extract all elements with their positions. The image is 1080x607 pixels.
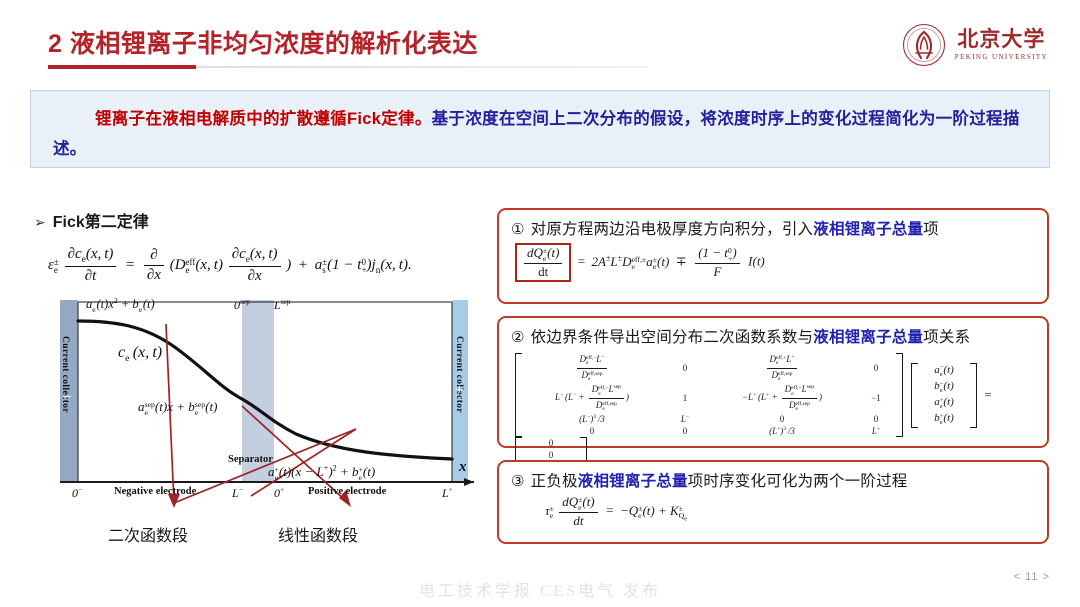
matrix-cell: Deff,+eL+Deff,sepe xyxy=(708,353,856,383)
vector-bracket-right xyxy=(970,363,977,428)
title-underline-accent xyxy=(48,65,196,69)
vector-bracket-left xyxy=(911,363,918,428)
page-indicator: < 11 > xyxy=(1014,571,1050,583)
matrix-cell: 0 xyxy=(522,425,662,437)
matrix-bracket-left xyxy=(515,353,522,437)
diffusion-equation: ε±e ∂ce(x, t)∂t = ∂∂x (Deffe(x, t) ∂ce(x… xyxy=(48,246,468,285)
matrix-cell: L+ xyxy=(856,425,896,437)
watermark-text: 电工技术学报 CES电气 发布 xyxy=(0,577,1080,601)
logo-name-en: PEKING UNIVERSITY xyxy=(955,54,1048,61)
vector-cell: a−e(t) xyxy=(918,363,970,379)
segment-label-linear: 线性函数段 xyxy=(278,522,358,546)
label-current-collector-positive: Current collector xyxy=(454,336,464,413)
concentration-profile-diagram: a−e(t)x2 + b−e(t) 0sep Lsep ce (x, t) as… xyxy=(46,296,486,506)
label-axis-x: x xyxy=(459,459,467,476)
matrix-row: (L−)3 /3 L− 0 0 xyxy=(522,413,896,425)
section-number: 2 xyxy=(48,30,62,58)
step-3-box: ③正负极液相锂离子总量项时序变化可化为两个一阶过程 τ±e dQ±e(t)dt … xyxy=(497,460,1049,544)
matrix-row: 0 0 (L+)3 /3 L+ xyxy=(522,425,896,437)
step-3-number: ③ xyxy=(511,473,525,490)
peking-university-logo: 北京大学 PEKING UNIVERSITY xyxy=(902,20,1048,70)
fick-second-law-heading: ➢Fick第二定律 xyxy=(34,208,149,232)
matrix-cell: 0 xyxy=(662,425,708,437)
step-1-heading: ①对原方程两边沿电极厚度方向积分，引入液相锂离子总量项 xyxy=(499,210,1047,241)
step-3-heading: ③正负极液相锂离子总量项时序变化可化为两个一阶过程 xyxy=(499,462,1047,493)
label-quadratic-negative: a−e(t)x2 + b−e(t) xyxy=(86,296,155,313)
diagram-svg xyxy=(46,296,486,511)
title-underline-fade xyxy=(196,66,648,68)
summary-banner: 锂离子在液相电解质中的扩散遵循Fick定律。基于浓度在空间上二次分布的假设，将浓… xyxy=(30,90,1050,168)
step-3-highlight: 液相锂离子总量 xyxy=(578,473,688,490)
step-1-text-after: 项 xyxy=(923,221,939,238)
matrix-cell: 1 xyxy=(662,392,708,404)
label-concentration-function: ce (x, t) xyxy=(118,344,162,364)
axis-tick-0-neg: 0− xyxy=(72,485,82,501)
matrix-cell: −1 xyxy=(856,392,896,404)
axis-tick-L-pos: L+ xyxy=(442,485,453,501)
boxed-derivative-term: dQ±e(t)dt xyxy=(515,243,571,282)
step-3-text-after: 项时序变化可化为两个一阶过程 xyxy=(688,473,908,490)
matrix-cell: 0 xyxy=(662,362,708,374)
slide-header: 2 液相锂离子非均匀浓度的解析化表达 北京大学 PEKING UNIVERSIT… xyxy=(0,0,1080,84)
vector-cell: b+e(t) xyxy=(918,411,970,427)
axis-tick-0-pos: 0+ xyxy=(274,485,284,501)
segment-label-quadratic: 二次函数段 xyxy=(108,522,188,546)
step-3-text-before: 正负极 xyxy=(531,473,578,490)
page-title: 2 液相锂离子非均匀浓度的解析化表达 xyxy=(48,24,478,60)
sign-positive: + xyxy=(455,382,464,399)
vector-rows: a−e(t) b−e(t) a+e(t) b+e(t) xyxy=(918,363,970,428)
matrix-cell: L− (L− + Deff,−eLsepDeff,sepe) xyxy=(522,383,662,413)
pku-seal-icon xyxy=(902,23,946,67)
matrix-rows: Deff,−eL−Deff,sepe 0 Deff,+eL+Deff,sepe … xyxy=(522,353,896,437)
unknown-vector: a−e(t) b−e(t) a+e(t) b+e(t) xyxy=(911,363,977,428)
region-label-negative-electrode: Negative electrode xyxy=(114,486,196,497)
matrix-cell: Deff,−eL−Deff,sepe xyxy=(522,353,662,383)
matrix-cell: L− xyxy=(662,413,708,425)
matrix-row: Deff,−eL−Deff,sepe 0 Deff,+eL+Deff,sepe … xyxy=(522,353,896,383)
matrix-cell: (L+)3 /3 xyxy=(708,425,856,437)
arrow-bullet-icon: ➢ xyxy=(34,214,46,230)
step-3-equation: τ±e dQ±e(t)dt = −Q±e(t) + K±Qe xyxy=(499,493,1047,536)
banner-red-text: 锂离子在液相电解质中的扩散遵循Fick定律。 xyxy=(95,110,432,128)
axis-tick-L-neg: L− xyxy=(232,485,243,501)
matrix-cell: 0 xyxy=(708,413,856,425)
segment-callout-labels: 二次函数段 线性函数段 xyxy=(46,520,486,554)
vector-cell: a+e(t) xyxy=(918,395,970,411)
step-2-text-before: 依边界条件导出空间分布二次函数系数与 xyxy=(531,329,814,346)
matrix-cell: 0 xyxy=(856,413,896,425)
region-label-positive-electrode: Positive electrode xyxy=(308,486,386,497)
fick-heading-label: Fick第二定律 xyxy=(53,214,149,231)
coefficient-matrix: Deff,−eL−Deff,sepe 0 Deff,+eL+Deff,sepe … xyxy=(515,353,903,437)
logo-name-cn: 北京大学 xyxy=(957,29,1045,50)
step-1-box: ①对原方程两边沿电极厚度方向积分，引入液相锂离子总量项 dQ±e(t)dt = … xyxy=(497,208,1049,304)
step-1-text-before: 对原方程两边沿电极厚度方向积分，引入 xyxy=(531,221,814,238)
label-sep-right: Lsep xyxy=(274,297,291,313)
page-title-text: 液相锂离子非均匀浓度的解析化表达 xyxy=(70,30,478,58)
step-2-number: ② xyxy=(511,329,525,346)
step-1-number: ① xyxy=(511,221,525,238)
label-quadratic-positive: a+e(t)(x − L+)2 + b+e(t) xyxy=(268,464,375,481)
vector-cell: b−e(t) xyxy=(918,379,970,395)
sign-negative: – xyxy=(63,388,71,405)
step-2-text-after: 项关系 xyxy=(923,329,970,346)
step-2-heading: ②依边界条件导出空间分布二次函数系数与液相锂离子总量项关系 xyxy=(499,318,1047,349)
title-underline xyxy=(48,65,648,69)
matrix-cell: 0 xyxy=(856,362,896,374)
step-1-equation: dQ±e(t)dt = 2A±L±Deff,±ea±e(t) ∓ (1 − t0… xyxy=(499,241,1047,290)
label-sep-left: 0sep xyxy=(234,297,250,313)
label-linear-separator: asepe(t)x + bsepe(t) xyxy=(138,399,217,416)
matrix-cell: −L+ (L+ + Deff,+eLsepDeff,sepe) xyxy=(708,383,856,413)
matrix-cell: (L−)3 /3 xyxy=(522,413,662,425)
step-2-box: ②依边界条件导出空间分布二次函数系数与液相锂离子总量项关系 Deff,−eL−D… xyxy=(497,316,1049,448)
equals-sign: = xyxy=(981,387,995,402)
step-2-highlight: 液相锂离子总量 xyxy=(813,329,923,346)
matrix-row: L− (L− + Deff,−eLsepDeff,sepe) 1 −L+ (L+… xyxy=(522,383,896,413)
matrix-bracket-right xyxy=(896,353,903,437)
banner-blue-text-line1: 基于浓度在空间上二次分布的假设，将浓度时序 xyxy=(432,110,785,128)
logo-wordmark: 北京大学 PEKING UNIVERSITY xyxy=(955,29,1048,61)
label-separator: Separator xyxy=(228,454,273,465)
rhs-cell: 0 xyxy=(522,437,580,449)
step-1-highlight: 液相锂离子总量 xyxy=(813,221,923,238)
